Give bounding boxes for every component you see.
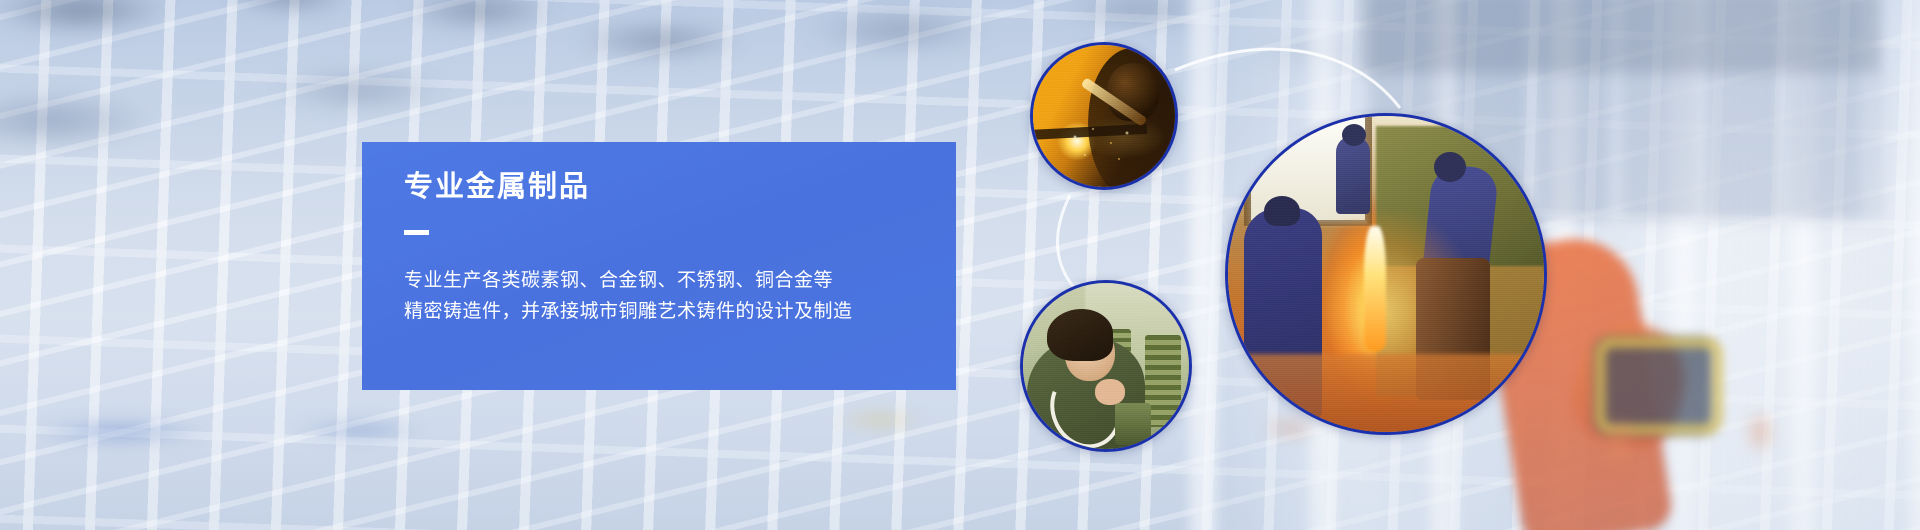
- page-title: 专业金属制品: [404, 172, 932, 204]
- welding-photo: [1030, 42, 1178, 190]
- background-tint: [0, 0, 1920, 530]
- hero-text-panel: 专业金属制品 专业生产各类碳素钢、合金钢、不锈钢、铜合金等 精密铸造件，并承接城…: [362, 142, 956, 390]
- foundry-photo-image: [1228, 116, 1544, 432]
- factory-background: [0, 0, 1920, 530]
- photo-grain-overlay: [1033, 45, 1175, 187]
- title-divider: [404, 230, 429, 235]
- hero-description-line-2: 精密铸造件，并承接城市铜雕艺术铸件的设计及制造: [404, 296, 932, 327]
- assembly-worker-photo-image: [1023, 283, 1189, 449]
- photo-grain-overlay: [1023, 283, 1189, 449]
- assembly-worker-photo: [1020, 280, 1192, 452]
- hero-description: 专业生产各类碳素钢、合金钢、不锈钢、铜合金等 精密铸造件，并承接城市铜雕艺术铸件…: [404, 265, 932, 328]
- welding-photo-image: [1033, 45, 1175, 187]
- foundry-pour-photo: [1225, 113, 1547, 435]
- hero-description-line-1: 专业生产各类碳素钢、合金钢、不锈钢、铜合金等: [404, 265, 932, 296]
- hero-text-content: 专业金属制品 专业生产各类碳素钢、合金钢、不锈钢、铜合金等 精密铸造件，并承接城…: [404, 172, 932, 328]
- hero-banner: 专业金属制品 专业生产各类碳素钢、合金钢、不锈钢、铜合金等 精密铸造件，并承接城…: [0, 0, 1920, 530]
- photo-grain-overlay: [1228, 116, 1544, 432]
